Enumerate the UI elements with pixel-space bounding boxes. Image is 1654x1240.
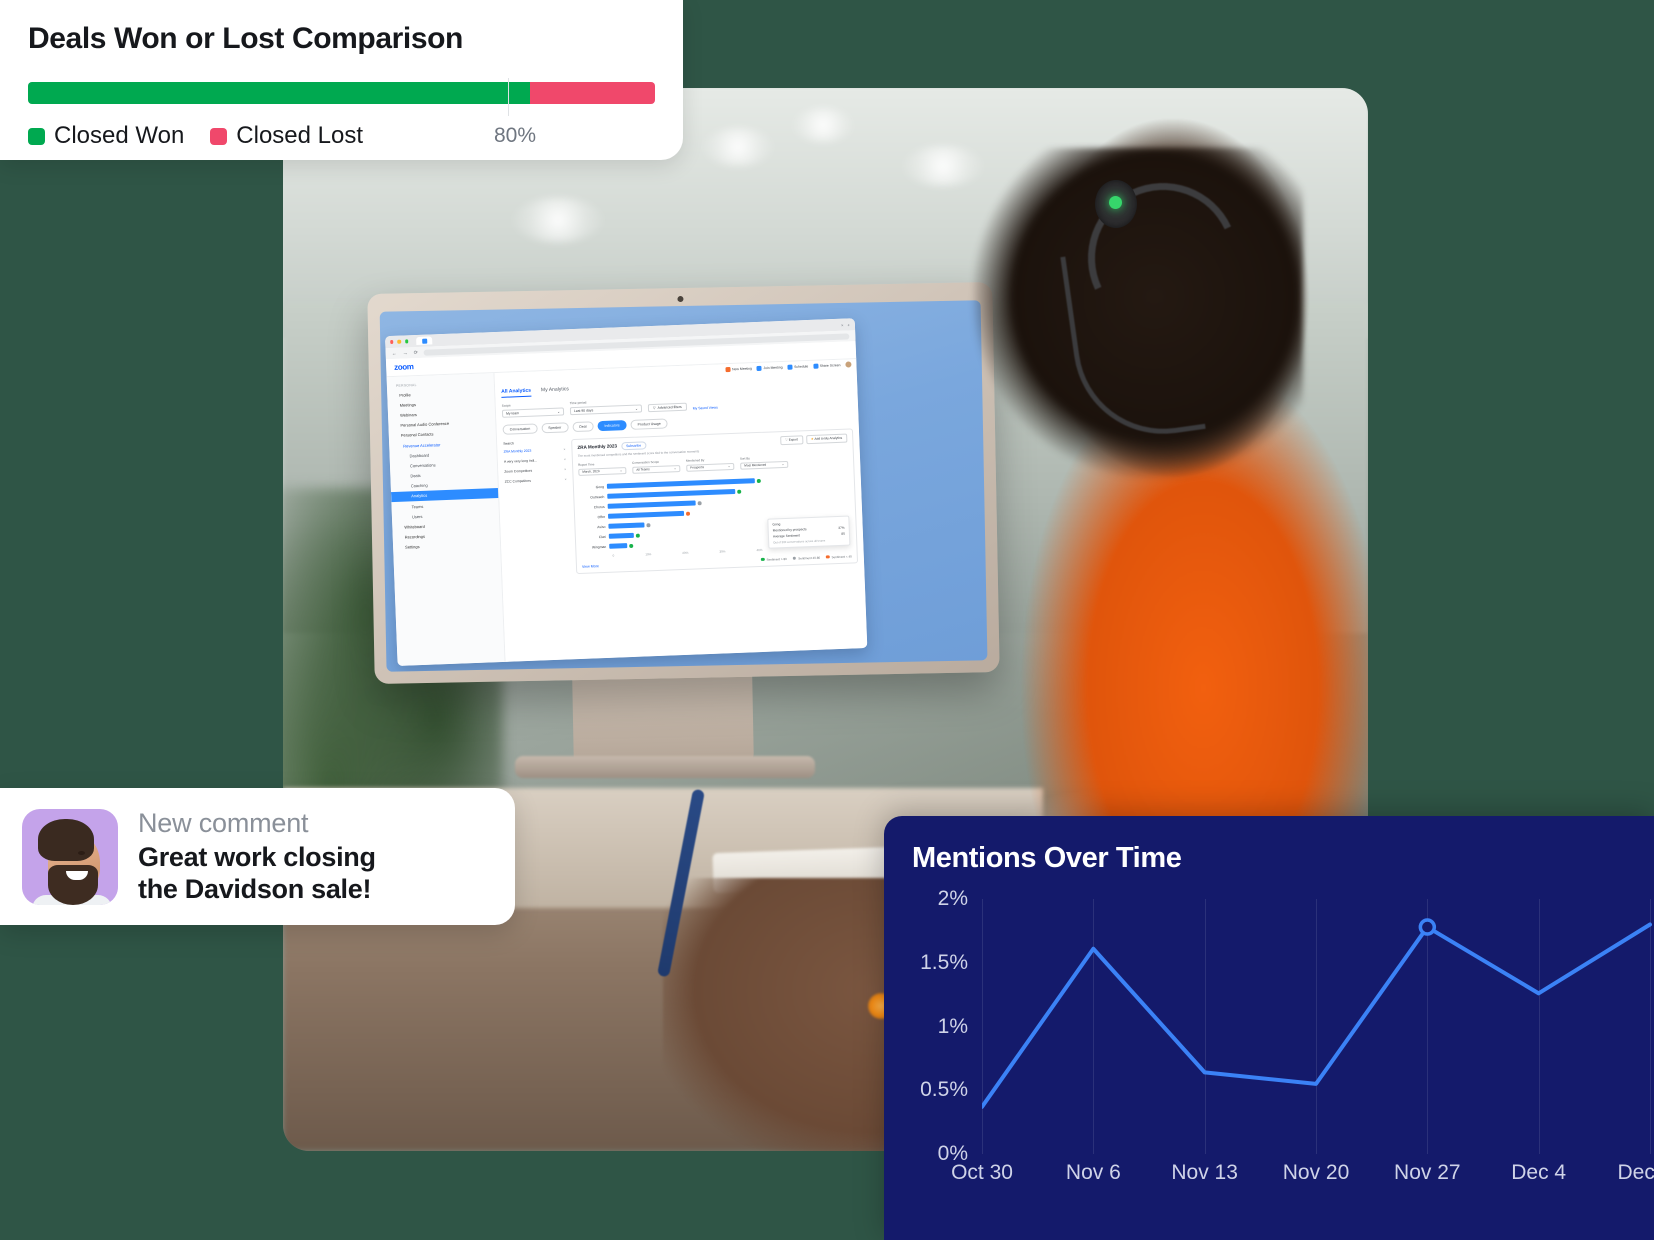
back-icon[interactable]: ←: [392, 350, 397, 356]
sentiment-dot-positive: [629, 543, 633, 547]
browser-tab[interactable]: [416, 336, 432, 345]
x-tick: Nov 6: [1066, 1161, 1121, 1185]
deals-progress-bar: [28, 82, 655, 104]
forward-icon[interactable]: →: [403, 350, 408, 356]
mentions-over-time-card: Mentions Over Time 0%0.5%1%1.5%2% Oct 30…: [884, 816, 1654, 1240]
legend-swatch-grey: [793, 556, 797, 560]
x-tick: 10%: [645, 552, 651, 556]
chevron-down-icon: ⌄: [557, 409, 560, 413]
conversation-scope-filter: Conversation Scope All Teams⌄: [632, 459, 680, 473]
comment-message-line1: Great work closing: [138, 842, 376, 874]
x-tick: Oct 30: [951, 1161, 1013, 1185]
chart-tooltip: Gong Mentioned by prospects 37% Average …: [767, 515, 850, 549]
bar-closed-won: [28, 82, 530, 104]
bar-clari: [609, 533, 634, 539]
chip-conversation[interactable]: Conversation: [502, 423, 537, 434]
sort-by-select[interactable]: Most Mentioned⌄: [740, 460, 788, 469]
zoom-logo: zoom: [394, 362, 414, 372]
conversation-scope-label: Conversation Scope: [632, 459, 680, 465]
browser-window[interactable]: × + ← → ⟳ zoom PERSO: [385, 318, 867, 666]
zoom-quick-actions: New Meeting Join Meeting Schedule Share …: [725, 361, 851, 372]
bar-label: Clari: [581, 534, 609, 539]
chart-y-axis: 0%0.5%1%1.5%2%: [912, 899, 974, 1154]
chevron-down-icon: ⌄: [782, 462, 785, 466]
chevron-down-icon: ⌄: [674, 466, 677, 470]
webcam-icon: [677, 296, 683, 302]
subscribe-button[interactable]: Subscribe: [621, 441, 646, 450]
avatar-hair: [38, 819, 94, 861]
join-icon: [757, 365, 762, 370]
saved-search-list: Search ZRA Monthly 2023× A very very lon…: [503, 439, 570, 576]
new-comment-card[interactable]: New comment Great work closing the David…: [0, 788, 515, 925]
comment-body: New comment Great work closing the David…: [138, 808, 376, 906]
tab-my-analytics[interactable]: My Analytics: [541, 386, 569, 396]
scope-value: My team: [506, 411, 519, 415]
bar-closed-lost: [530, 82, 655, 104]
tooltip-row2-label: Average Sentiment: [773, 533, 800, 538]
y-tick: 2%: [938, 887, 968, 911]
chevron-down-icon: ⌄: [620, 468, 623, 472]
tooltip-note: Out of 200 conversations across all team…: [773, 538, 845, 545]
x-tick: Dec 11: [1618, 1161, 1654, 1185]
chart-x-axis: Oct 30Nov 6Nov 13Nov 20Nov 27Dec 4Dec 11: [982, 1161, 1654, 1191]
chart-line-svg: [982, 899, 1654, 1154]
conversation-scope-select[interactable]: All Teams⌄: [632, 465, 680, 474]
legend-item: Sentiment 40-80: [793, 555, 821, 560]
search-item-long-indicator[interactable]: A very very long indi...×: [504, 457, 566, 463]
schedule-button[interactable]: Schedule: [788, 364, 809, 370]
legend-swatch-won: [28, 128, 45, 145]
chip-product-usage[interactable]: Product Usage: [630, 418, 668, 429]
legend-swatch-lost: [210, 128, 227, 145]
saved-views-link[interactable]: My Saved Views: [693, 405, 718, 410]
time-period-filter: Time period Last 90 days ⌄: [570, 398, 642, 414]
join-meeting-button[interactable]: Join Meeting: [757, 365, 783, 371]
sentiment-legend: Sentiment > 80 Sentiment 40-80 Sentiment…: [761, 554, 852, 561]
hero-composition: × + ← → ⟳ zoom PERSO: [0, 0, 1654, 1240]
bar-offer: [608, 511, 684, 519]
legend-swatch-green: [761, 558, 765, 562]
search-item-zcc-competitors[interactable]: ZCC Competitors×: [505, 477, 567, 483]
report-time-label: Report Time: [578, 461, 626, 467]
time-period-select[interactable]: Last 90 days ⌄: [570, 404, 642, 415]
close-icon[interactable]: [390, 340, 394, 344]
bar-wingman: [609, 543, 627, 549]
bar-label: Offer: [580, 514, 608, 519]
page-title: Deals Won or Lost Comparison: [28, 22, 655, 56]
x-tick: Nov 27: [1394, 1161, 1461, 1185]
remove-icon[interactable]: ×: [564, 457, 566, 461]
chart-title: Mentions Over Time: [912, 842, 1654, 875]
zoom-sidebar: PERSONAL Profile Meetings Webinars Perso…: [387, 373, 506, 666]
headset-status-light: [1109, 196, 1122, 209]
y-tick: 0.5%: [920, 1078, 968, 1102]
view-more-link[interactable]: View More: [582, 564, 599, 569]
search-label: Search: [503, 439, 565, 445]
report-time-select[interactable]: March, 2023⌄: [578, 467, 626, 476]
mentioned-by-select[interactable]: Prospects⌄: [686, 462, 734, 471]
chip-deal[interactable]: Deal: [572, 421, 594, 432]
bar-aviso: [608, 522, 644, 528]
sentiment-dot-neutral: [646, 523, 650, 527]
analytics-main: New Meeting Join Meeting Schedule Share …: [494, 359, 867, 662]
sentiment-dot-positive: [757, 478, 761, 482]
sentiment-dot-positive: [737, 489, 741, 493]
advanced-filters-label: Advanced filters: [657, 404, 681, 409]
x-tick: Nov 20: [1283, 1161, 1350, 1185]
report-title: ZRA Monthly 2023: [577, 443, 617, 450]
sentiment-dot-positive: [636, 533, 640, 537]
report-time-filter: Report Time March, 2023⌄: [578, 461, 626, 475]
mentioned-by-label: Mentioned By: [686, 457, 734, 463]
mentioned-by-filter: Mentioned By Prospects⌄: [686, 457, 734, 471]
filter-icon: ▽: [653, 405, 656, 409]
comment-message-line2: the Davidson sale!: [138, 874, 376, 906]
time-period-value: Last 90 days: [574, 408, 593, 413]
video-icon: [726, 367, 731, 372]
sentiment-dot-neutral: [698, 501, 702, 505]
deals-tick-marker: [508, 78, 509, 116]
x-tick: Dec 4: [1511, 1161, 1566, 1185]
x-tick: 20%: [682, 550, 688, 554]
scope-select[interactable]: My team ⌄: [502, 407, 564, 417]
legend-item-closed-won: Closed Won: [28, 122, 184, 150]
search-item-zra-monthly[interactable]: ZRA Monthly 2023×: [503, 447, 565, 453]
x-tick: Nov 13: [1171, 1161, 1238, 1185]
add-to-my-analytics-button[interactable]: ★ Add to My Analytics: [806, 433, 848, 444]
ceiling-light-4: [513, 198, 603, 242]
bar-label: Wingman: [581, 544, 609, 549]
ceiling-light-1: [703, 128, 773, 166]
zoom-favicon-icon: [422, 338, 427, 343]
mentions-chart: 0%0.5%1%1.5%2% Oct 30Nov 6Nov 13Nov 20No…: [912, 899, 1654, 1199]
chip-indicators[interactable]: Indicators: [597, 420, 627, 431]
comment-heading: New comment: [138, 808, 376, 839]
monitor-base: [515, 756, 815, 778]
deals-legend: Closed Won Closed Lost 80%: [28, 122, 655, 150]
x-tick: 0: [612, 553, 614, 557]
y-tick: 1.5%: [920, 951, 968, 975]
legend-item: Sentiment > 80: [761, 556, 787, 561]
tooltip-row1-label: Mentioned by prospects: [773, 527, 807, 532]
legend-label-won: Closed Won: [54, 122, 184, 150]
y-tick: 1%: [938, 1015, 968, 1039]
calendar-icon: [788, 364, 793, 369]
legend-label-lost: Closed Lost: [236, 122, 363, 150]
minimize-icon[interactable]: [398, 340, 402, 344]
legend-swatch-orange: [826, 555, 830, 559]
monitor-stand: [572, 671, 754, 766]
chevron-down-icon: ⌄: [728, 464, 731, 468]
legend-item-closed-lost: Closed Lost: [210, 122, 363, 150]
share-icon: [813, 363, 818, 368]
avatar: [22, 809, 118, 905]
sentiment-dot-negative: [686, 511, 690, 515]
comment-message: Great work closing the Davidson sale!: [138, 842, 376, 906]
search-item-zoom-competitors[interactable]: Zoom Competitors×: [504, 467, 566, 473]
report-card: ZRA Monthly 2023 Subscribe ♡ Export ★ Ad…: [571, 428, 858, 574]
export-button[interactable]: ♡ Export: [780, 435, 803, 445]
new-meeting-button[interactable]: New Meeting: [726, 366, 752, 372]
remove-icon[interactable]: ×: [563, 447, 565, 451]
share-screen-button[interactable]: Share Screen: [813, 362, 840, 368]
bar-label: Outreach: [579, 494, 607, 499]
remove-icon[interactable]: ×: [565, 477, 567, 481]
chart-line: [982, 925, 1650, 1107]
sort-by-filter: Sort By Most Mentioned⌄: [740, 455, 788, 469]
x-tick: 30%: [719, 549, 725, 553]
deals-percent-label: 80%: [494, 124, 536, 148]
chip-speaker[interactable]: Speaker: [541, 422, 568, 433]
tab-all-analytics[interactable]: All Analytics: [501, 388, 531, 398]
bar-label: Aviso: [580, 524, 608, 529]
bar-label: Gong: [579, 484, 607, 489]
bar-label: Chorus: [580, 504, 608, 509]
x-tick: 40%: [756, 547, 762, 551]
scope-filter: Scope My team ⌄: [502, 401, 564, 417]
maximize-icon[interactable]: [405, 340, 409, 344]
chevron-down-icon: ⌄: [635, 406, 638, 410]
avatar-eye: [78, 851, 85, 855]
reload-icon[interactable]: ⟳: [414, 349, 418, 355]
deals-comparison-card: Deals Won or Lost Comparison Closed Won …: [0, 0, 683, 160]
remove-icon[interactable]: ×: [564, 467, 566, 471]
advanced-filters-button[interactable]: ▽ Advanced filters: [648, 402, 687, 411]
chart-highlight-point[interactable]: [1420, 920, 1434, 934]
sort-by-label: Sort By: [740, 455, 788, 461]
